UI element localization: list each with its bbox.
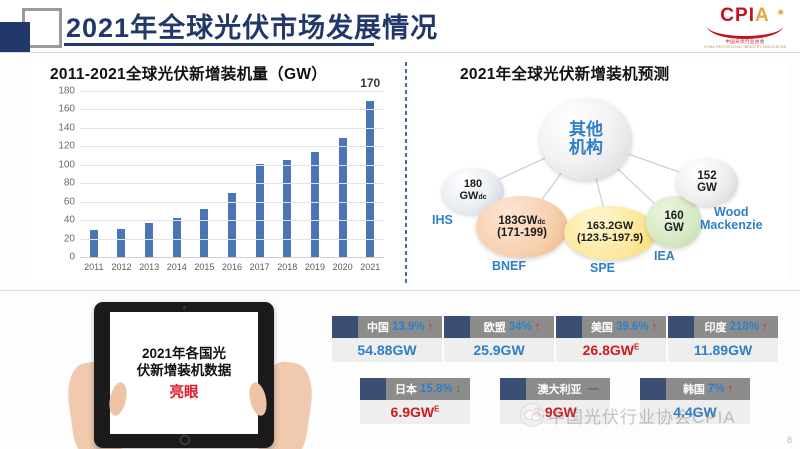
country-installed-value: 25.9GW (473, 342, 524, 358)
bubble-iea-value: 160 (664, 210, 683, 222)
bar-group-2020[interactable]: 2020 (329, 92, 357, 258)
y-axis-tick-20: 20 (64, 233, 75, 244)
logo-cp: CP (720, 5, 748, 26)
country-growth-pct: 39.6% (616, 321, 649, 333)
bubble-label-ihs: IHS (432, 214, 453, 227)
bar-group-2019[interactable]: 2019 (301, 92, 329, 258)
country-card-header: 欧盟34%↑ (470, 316, 554, 338)
slide: 2021年全球光伏市场发展情况 ✺ CPIA 中国光伏行业协会 CHINA PH… (0, 0, 800, 449)
x-axis-tick-2021: 2021 (360, 262, 380, 272)
bar-group-2021[interactable]: 1702021 (356, 92, 384, 258)
chart-plot-area: 2011201220132014201520162017201820192020… (80, 92, 384, 258)
country-card-marker-icon (360, 378, 386, 400)
country-name: 印度 (705, 319, 727, 335)
bubble-bnef-range: (171-199) (497, 227, 547, 239)
bar-2013[interactable] (145, 223, 153, 258)
trend-up-icon: ↑ (535, 322, 541, 333)
trend-up-icon: ↑ (428, 322, 434, 333)
country-card-header: 韩国7%↑ (666, 378, 750, 400)
gridline-60: 60 (80, 202, 384, 203)
country-card-body: 54.88GW (332, 338, 442, 362)
page-title: 2021年全球光伏市场发展情况 (66, 6, 438, 45)
bubble-center-line1: 其他 (569, 121, 603, 139)
x-axis-tick-2015: 2015 (194, 262, 214, 272)
bubble-label-spe: SPE (590, 262, 615, 275)
country-card-header: 美国39.6%↑ (582, 316, 666, 338)
logo-rays-icon: ✺ (777, 8, 784, 17)
bubble-spe-range: (123.5-197.9) (577, 233, 643, 245)
bubble-bnef-value: 183GWdc (498, 215, 545, 227)
country-card-body: 6.9GWE (360, 400, 470, 424)
country-card-header: 中国13.9%↑ (358, 316, 442, 338)
country-card-body: 11.89GW (668, 338, 778, 362)
trend-down-icon: ↓ (456, 384, 462, 395)
country-card-marker-icon (556, 316, 582, 338)
bar-2015[interactable] (200, 209, 208, 258)
country-name: 中国 (367, 319, 389, 335)
logo-subtitle-en: CHINA PHOTOVOLTAIC INDUSTRY ASSOCIATION (702, 45, 788, 49)
x-axis-tick-2019: 2019 (305, 262, 325, 272)
bubble-wm-unit: GW (697, 182, 717, 194)
country-card-header: 日本15.8%↓ (386, 378, 470, 400)
country-card-印度[interactable]: 印度218%↑11.89GW (668, 316, 778, 362)
country-value-superscript: E (634, 342, 639, 351)
bar-group-2014[interactable]: 2014 (163, 92, 191, 258)
bar-group-2015[interactable]: 2015 (191, 92, 219, 258)
bar-2021[interactable]: 170 (366, 101, 374, 258)
gridline-20: 20 (80, 239, 384, 240)
bar-2019[interactable] (311, 152, 319, 258)
country-card-marker-icon (640, 378, 666, 400)
forecast-title: 2021年全球光伏新增装机预测 (460, 62, 669, 84)
country-growth-pct: 7% (708, 383, 725, 395)
gridline-0: 0 (80, 257, 384, 258)
bubble-label-wood-mackenzie: WoodMackenzie (700, 206, 763, 232)
bar-group-2017[interactable]: 2017 (246, 92, 274, 258)
gridline-120: 120 (80, 146, 384, 147)
x-axis-tick-2013: 2013 (139, 262, 159, 272)
country-card-marker-icon (444, 316, 470, 338)
bubble-center-line2: 机构 (569, 139, 603, 157)
bar-group-2011[interactable]: 2011 (80, 92, 108, 258)
country-card-澳大利亚[interactable]: 澳大利亚—3.9GW (500, 378, 610, 424)
bar-group-2013[interactable]: 2013 (135, 92, 163, 258)
x-axis-tick-2018: 2018 (277, 262, 297, 272)
cpia-logo: ✺ CPIA 中国光伏行业协会 CHINA PHOTOVOLTAIC INDUS… (702, 6, 788, 46)
country-installed-value: 11.89GW (694, 342, 752, 358)
panel-divider (405, 62, 407, 284)
country-growth-pct: 34% (509, 321, 532, 333)
country-installed-value: 3.9GW (533, 404, 577, 420)
bar-value-label-2021: 170 (360, 76, 380, 90)
gridline-160: 160 (80, 109, 384, 110)
logo-wordmark: CPIA (702, 6, 788, 26)
title-underline (64, 43, 374, 46)
bubble-center: 其他 机构 (540, 98, 632, 180)
country-value-superscript: E (434, 404, 439, 413)
y-axis-tick-180: 180 (58, 86, 75, 97)
bubble-ihs-unit: GWdc (459, 191, 486, 203)
y-axis-tick-120: 120 (58, 141, 75, 152)
bar-2012[interactable] (117, 229, 125, 259)
tablet-device: 2021年各国光 伏新增装机数据 亮眼 (94, 302, 274, 448)
country-installed-value: 54.88GW (357, 342, 416, 358)
country-growth-pct: 13.9% (392, 321, 425, 333)
country-card-欧盟[interactable]: 欧盟34%↑25.9GW (444, 316, 554, 362)
y-axis-tick-80: 80 (64, 178, 75, 189)
trend-up-icon: ↑ (728, 384, 734, 395)
chart-title: 2011-2021全球光伏新增装机量（GW） (50, 62, 327, 84)
chart-bars: 2011201220132014201520162017201820192020… (80, 92, 384, 258)
gridline-140: 140 (80, 128, 384, 129)
country-card-中国[interactable]: 中国13.9%↑54.88GW (332, 316, 442, 362)
trend-flat-icon: — (588, 384, 599, 395)
bubble-label-bnef: BNEF (492, 260, 526, 273)
x-axis-tick-2016: 2016 (222, 262, 242, 272)
trend-up-icon: ↑ (762, 322, 768, 333)
bar-2017[interactable] (256, 164, 264, 258)
gridline-40: 40 (80, 220, 384, 221)
bar-group-2018[interactable]: 2018 (273, 92, 301, 258)
bubble-iea-unit: GW (664, 222, 684, 234)
tablet-home-button-icon (180, 435, 190, 445)
bar-group-2016[interactable]: 2016 (218, 92, 246, 258)
tablet-text-line2: 伏新增装机数据 (137, 362, 232, 379)
country-installed-value: 4.4GW (673, 404, 717, 420)
country-growth-pct: 218% (730, 321, 759, 333)
country-installed-value: 26.8GWE (583, 342, 640, 358)
country-card-美国[interactable]: 美国39.6%↑26.8GWE (556, 316, 666, 362)
country-installed-value: 6.9GWE (391, 404, 440, 420)
logo-arc-icon (707, 26, 783, 39)
country-name: 韩国 (683, 381, 705, 397)
x-axis-tick-2011: 2011 (84, 262, 103, 272)
gridline-80: 80 (80, 183, 384, 184)
x-axis-tick-2017: 2017 (250, 262, 270, 272)
bubble-spe: 163.2GW (123.5-197.9) (564, 206, 656, 260)
country-growth-pct: 15.8% (420, 383, 453, 395)
country-card-marker-icon (332, 316, 358, 338)
page-number: 8 (787, 435, 792, 445)
gridline-180: 180 (80, 91, 384, 92)
country-card-body: 25.9GW (444, 338, 554, 362)
bubble-bnef: 183GWdc (171-199) (476, 196, 568, 258)
tablet-photo: 2021年各国光 伏新增装机数据 亮眼 (62, 298, 332, 449)
left-panel: 2011-2021全球光伏新增装机量（GW） 20112012201320142… (32, 58, 400, 286)
bar-2011[interactable] (90, 230, 98, 258)
country-card-日本[interactable]: 日本15.8%↓6.9GWE (360, 378, 470, 424)
country-card-marker-icon (500, 378, 526, 400)
bar-chart: 2011201220132014201520162017201820192020… (46, 88, 390, 284)
y-axis-tick-40: 40 (64, 215, 75, 226)
tablet-highlight: 亮眼 (170, 381, 199, 402)
header-square-filled-icon (0, 22, 30, 52)
y-axis-tick-100: 100 (58, 159, 75, 170)
right-panel: 2021年全球光伏新增装机预测 其他 机构 180 GWdc IHS 183GW… (414, 58, 788, 286)
forecast-bubble-diagram: 其他 机构 180 GWdc IHS 183GWdc (171-199) BNE… (414, 84, 788, 284)
country-card-body: 26.8GWE (556, 338, 666, 362)
x-axis-tick-2012: 2012 (111, 262, 131, 272)
y-axis-tick-60: 60 (64, 196, 75, 207)
logo-a: A (755, 5, 770, 26)
header-divider (0, 52, 800, 53)
y-axis-tick-140: 140 (58, 122, 75, 133)
bar-2020[interactable] (339, 138, 347, 258)
bubble-label-iea: IEA (654, 250, 675, 263)
country-card-body: 4.4GW (640, 400, 750, 424)
tablet-screen: 2021年各国光 伏新增装机数据 亮眼 (110, 312, 258, 434)
bubble-wood-mackenzie: 152 GW (676, 158, 738, 206)
country-name: 美国 (591, 319, 613, 335)
bar-2018[interactable] (283, 160, 291, 258)
bubble-label-wm-line2: Mackenzie (700, 219, 763, 232)
country-card-header: 印度218%↑ (694, 316, 778, 338)
bar-group-2012[interactable]: 2012 (108, 92, 136, 258)
country-name: 欧盟 (484, 319, 506, 335)
gridline-100: 100 (80, 165, 384, 166)
tablet-camera-icon (183, 306, 186, 309)
country-card-body: 3.9GW (500, 400, 610, 424)
x-axis-tick-2014: 2014 (167, 262, 187, 272)
country-card-marker-icon (668, 316, 694, 338)
y-axis-tick-0: 0 (69, 252, 75, 263)
country-name: 日本 (395, 381, 417, 397)
tablet-text-line1: 2021年各国光 (142, 345, 226, 362)
bubble-wm-value: 152 (697, 170, 716, 182)
x-axis-tick-2020: 2020 (333, 262, 353, 272)
slide-header: 2021年全球光伏市场发展情况 ✺ CPIA 中国光伏行业协会 CHINA PH… (0, 0, 800, 52)
trend-up-icon: ↑ (652, 322, 658, 333)
bottom-divider (0, 290, 800, 291)
bar-2016[interactable] (228, 193, 236, 258)
country-card-header: 澳大利亚— (526, 378, 610, 400)
country-card-韩国[interactable]: 韩国7%↑4.4GW (640, 378, 750, 424)
country-name: 澳大利亚 (538, 381, 582, 397)
y-axis-tick-160: 160 (58, 104, 75, 115)
